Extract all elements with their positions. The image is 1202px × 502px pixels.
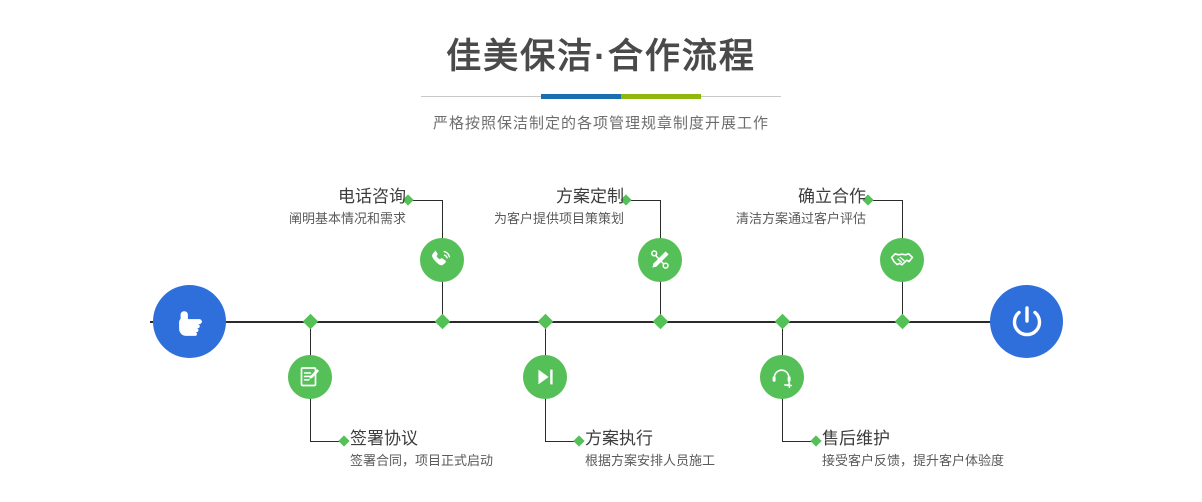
- step-desc-4: 根据方案安排人员施工: [585, 452, 715, 471]
- step-title-4: 方案执行: [585, 428, 715, 449]
- step-icon-3[interactable]: [638, 238, 682, 282]
- axis-marker-1: [435, 314, 451, 330]
- step-icon-5[interactable]: [880, 238, 924, 282]
- step-label-5: 确立合作 清洁方案通过客户评估: [736, 186, 866, 229]
- axis-marker-5: [895, 314, 911, 330]
- step-icon-1[interactable]: [420, 238, 464, 282]
- step-label-4: 方案执行 根据方案安排人员施工: [585, 428, 715, 471]
- phone-call-icon: [429, 247, 455, 273]
- timeline-end-node[interactable]: [990, 285, 1063, 358]
- handshake-icon: [889, 247, 915, 273]
- label-marker-2: [338, 435, 349, 446]
- step-icon-2[interactable]: [288, 355, 332, 399]
- play-execute-icon: [532, 364, 558, 390]
- step-desc-6: 接受客户反馈，提升客户体验度: [822, 452, 1004, 471]
- pencil-design-icon: [647, 247, 673, 273]
- step-label-6: 售后维护 接受客户反馈，提升客户体验度: [822, 428, 1004, 471]
- label-marker-4: [573, 435, 584, 446]
- axis-marker-4: [538, 314, 554, 330]
- label-marker-6: [810, 435, 821, 446]
- power-icon: [1006, 301, 1048, 343]
- step-desc-3: 为客户提供项目策策划: [494, 210, 624, 229]
- axis-marker-3: [653, 314, 669, 330]
- step-label-2: 签署协议 签署合同，项目正式启动: [350, 428, 493, 471]
- step-label-1: 电话咨询 阐明基本情况和需求: [289, 186, 406, 229]
- timeline-axis: [150, 321, 1055, 323]
- step-title-1: 电话咨询: [289, 186, 406, 207]
- step-icon-4[interactable]: [523, 355, 567, 399]
- document-sign-icon: [297, 364, 323, 390]
- timeline: 电话咨询 阐明基本情况和需求 签署协议 签署合同，项目正式启动: [0, 0, 1202, 502]
- step-icon-6[interactable]: [760, 355, 804, 399]
- flow-diagram-page: 佳美保洁·合作流程 严格按照保洁制定的各项管理规章制度开展工作: [0, 0, 1202, 502]
- timeline-start-node[interactable]: [153, 285, 226, 358]
- axis-marker-6: [775, 314, 791, 330]
- step-title-3: 方案定制: [494, 186, 624, 207]
- step-title-2: 签署协议: [350, 428, 493, 449]
- customer-service-icon: [769, 364, 795, 390]
- step-desc-1: 阐明基本情况和需求: [289, 210, 406, 229]
- step-title-6: 售后维护: [822, 428, 1004, 449]
- step-desc-5: 清洁方案通过客户评估: [736, 210, 866, 229]
- step-desc-2: 签署合同，项目正式启动: [350, 452, 493, 471]
- axis-marker-2: [303, 314, 319, 330]
- step-label-3: 方案定制 为客户提供项目策策划: [494, 186, 624, 229]
- step-title-5: 确立合作: [736, 186, 866, 207]
- pointing-hand-icon: [170, 302, 210, 342]
